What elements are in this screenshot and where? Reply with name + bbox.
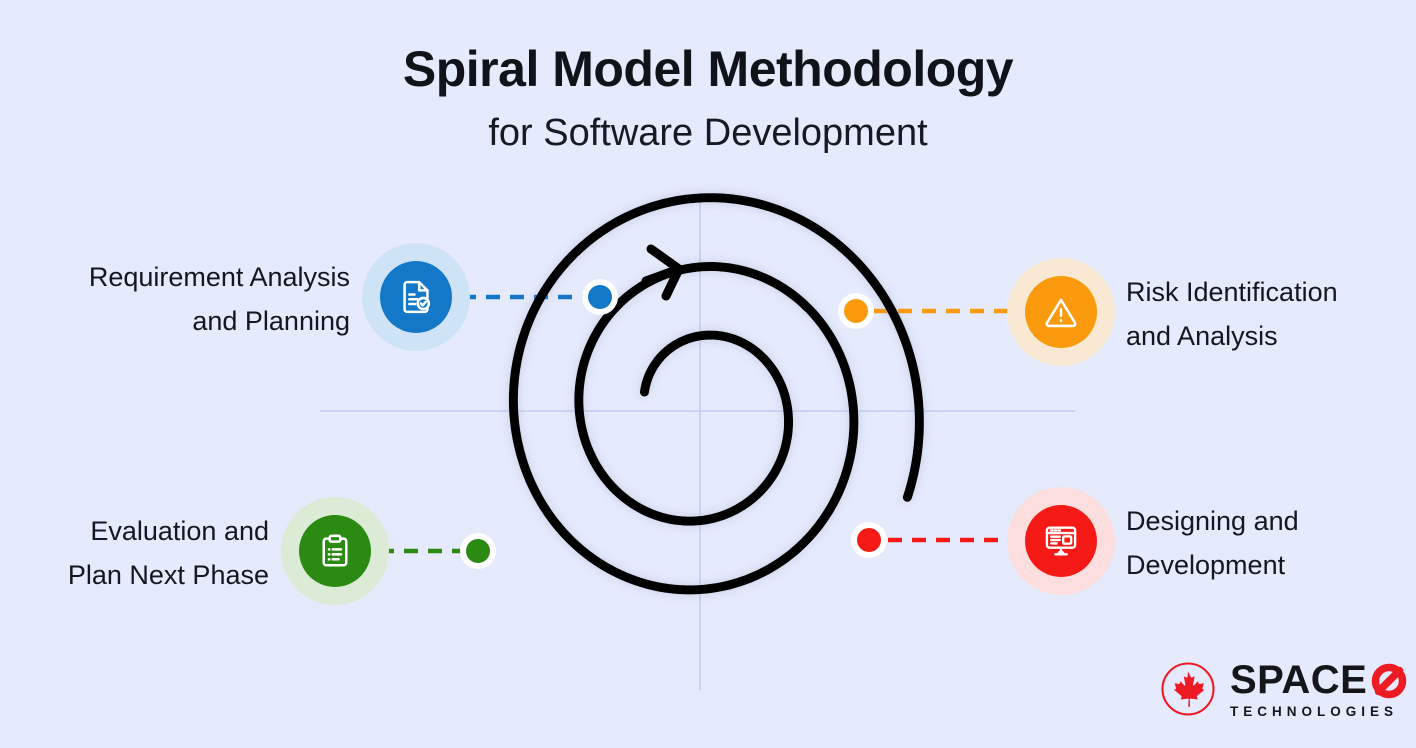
node-dot: [466, 539, 490, 563]
phase-risk-identification[interactable]: [1007, 258, 1115, 366]
infographic-canvas: Spiral Model Methodology for Software De…: [0, 0, 1416, 748]
spiral-node-evaluation[interactable]: [460, 533, 496, 569]
phase-designing-development[interactable]: [1007, 487, 1115, 595]
logo-tagline: TECHNOLOGIES: [1230, 705, 1409, 719]
spiral-node-requirement[interactable]: [582, 279, 618, 315]
node-dot: [857, 528, 881, 552]
node-dot: [588, 285, 612, 309]
node-dot: [844, 299, 868, 323]
spiral-node-designing[interactable]: [851, 522, 887, 558]
spiral-node-risk[interactable]: [838, 293, 874, 329]
brand-logo[interactable]: SPACE TECHNOLOGIES: [1160, 660, 1409, 719]
logo-word-space: SPACE: [1230, 660, 1367, 700]
phase-evaluation-next[interactable]: [281, 497, 389, 605]
phase-requirement-analysis[interactable]: [362, 243, 470, 351]
phase-label-designing-development: Designing and Development: [1126, 500, 1416, 587]
maple-leaf-circle-icon: [1160, 661, 1216, 717]
phase-label-evaluation-next: Evaluation and Plan Next Phase: [14, 510, 269, 597]
document-check-icon: [380, 261, 452, 333]
clipboard-checklist-icon: [299, 515, 371, 587]
direction-arrow-icon: [646, 249, 679, 296]
monitor-design-icon: [1025, 505, 1097, 577]
warning-triangle-icon: [1025, 276, 1097, 348]
logo-wordmark: SPACE TECHNOLOGIES: [1230, 660, 1409, 719]
phase-label-requirement-analysis: Requirement Analysis and Planning: [14, 256, 350, 343]
phase-label-risk-identification: Risk Identification and Analysis: [1126, 271, 1416, 358]
spiral-diagram: [0, 0, 1416, 748]
logo-oslash-icon: [1369, 660, 1409, 700]
